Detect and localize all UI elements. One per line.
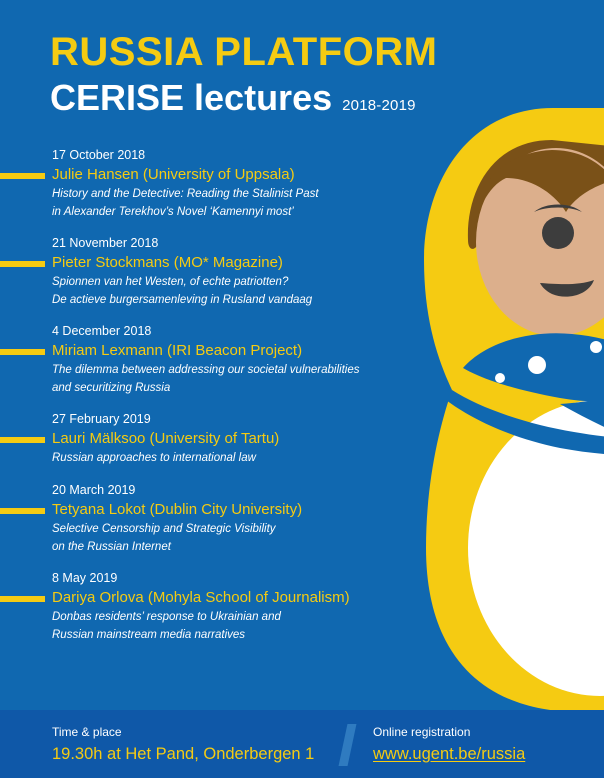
list-item: 8 May 2019 Dariya Orlova (Mohyla School … — [0, 569, 430, 643]
lecture-date: 17 October 2018 — [52, 146, 430, 164]
lecture-description-line1: Selective Censorship and Strategic Visib… — [52, 521, 430, 537]
dash-marker-icon — [0, 437, 45, 443]
lecture-speaker: Tetyana Lokot (Dublin City University) — [52, 501, 302, 518]
lecture-description-line1: The dilemma between addressing our socie… — [52, 362, 430, 378]
poster-header: RUSSIA PLATFORM CERISE lectures 2018-201… — [50, 32, 470, 116]
lecture-description-line2: in Alexander Terekhov’s Novel ‘Kamennyi … — [52, 204, 430, 220]
lecture-description-line2: De actieve burgersamenleving in Rusland … — [52, 292, 430, 308]
list-item: 21 November 2018 Pieter Stockmans (MO* M… — [0, 234, 430, 308]
doll-hair — [468, 140, 604, 249]
list-item: 20 March 2019 Tetyana Lokot (Dublin City… — [0, 481, 430, 555]
doll-eye — [542, 217, 574, 249]
doll-eyebrow — [534, 205, 582, 213]
collar-dot — [495, 373, 505, 383]
registration-block: Online registration www.ugent.be/russia — [373, 724, 525, 765]
registration-url-link[interactable]: www.ugent.be/russia — [373, 743, 525, 765]
list-item: 4 December 2018 Miriam Lexmann (IRI Beac… — [0, 322, 430, 396]
poster: RUSSIA PLATFORM CERISE lectures 2018-201… — [0, 0, 604, 778]
lecture-speaker: Julie Hansen (University of Uppsala) — [52, 166, 295, 183]
lecture-date: 21 November 2018 — [52, 234, 430, 252]
lecture-speaker-row: Miriam Lexmann (IRI Beacon Project) — [52, 341, 430, 361]
doll-apron — [468, 400, 604, 696]
dash-marker-icon — [0, 596, 45, 602]
registration-label: Online registration — [373, 724, 525, 741]
lecture-date: 27 February 2019 — [52, 410, 430, 428]
time-and-place-value: 19.30h at Het Pand, Onderbergen 1 — [52, 743, 314, 765]
dash-marker-icon — [0, 349, 45, 355]
slash-divider-icon — [339, 724, 357, 766]
lecture-date: 4 December 2018 — [52, 322, 430, 340]
dash-marker-icon — [0, 173, 45, 179]
lecture-date: 8 May 2019 — [52, 569, 430, 587]
time-and-place-label: Time & place — [52, 724, 314, 741]
page-title: RUSSIA PLATFORM — [50, 32, 470, 72]
list-item: 17 October 2018 Julie Hansen (University… — [0, 146, 430, 220]
lecture-speaker-row: Tetyana Lokot (Dublin City University) — [52, 500, 430, 520]
lecture-description-line2: and securitizing Russia — [52, 380, 430, 396]
lecture-description-line1: Spionnen van het Westen, of echte patrio… — [52, 274, 430, 290]
lecture-description-line1: Donbas residents’ response to Ukrainian … — [52, 609, 430, 625]
lecture-description-line2: on the Russian Internet — [52, 539, 430, 555]
collar-dot — [590, 341, 602, 353]
lecture-description-line1: Russian approaches to international law — [52, 450, 430, 466]
lecture-speaker-row: Pieter Stockmans (MO* Magazine) — [52, 253, 430, 273]
doll-collar — [463, 333, 604, 470]
doll-smile — [540, 280, 594, 297]
lecture-speaker-row: Dariya Orlova (Mohyla School of Journali… — [52, 588, 430, 608]
lecture-speaker: Lauri Mälksoo (University of Tartu) — [52, 430, 279, 447]
lecture-date: 20 March 2019 — [52, 481, 430, 499]
collar-dot — [528, 356, 546, 374]
season-years: 2018-2019 — [342, 97, 416, 114]
page-subtitle: CERISE lectures — [50, 80, 332, 116]
list-item: 27 February 2019 Lauri Mälksoo (Universi… — [0, 410, 430, 467]
lecture-speaker: Dariya Orlova (Mohyla School of Journali… — [52, 589, 350, 606]
lecture-list: 17 October 2018 Julie Hansen (University… — [0, 146, 430, 657]
lecture-speaker: Pieter Stockmans (MO* Magazine) — [52, 254, 283, 271]
lecture-speaker-row: Lauri Mälksoo (University of Tartu) — [52, 429, 430, 449]
lecture-description-line2: Russian mainstream media narratives — [52, 627, 430, 643]
dash-marker-icon — [0, 261, 45, 267]
lecture-speaker: Miriam Lexmann (IRI Beacon Project) — [52, 342, 302, 359]
poster-footer: Time & place 19.30h at Het Pand, Onderbe… — [0, 710, 604, 778]
lecture-description-line1: History and the Detective: Reading the S… — [52, 186, 430, 202]
dash-marker-icon — [0, 508, 45, 514]
doll-headscarf — [424, 108, 604, 712]
doll-scarf-fold — [446, 390, 604, 455]
subtitle-row: CERISE lectures 2018-2019 — [50, 80, 470, 116]
time-and-place-block: Time & place 19.30h at Het Pand, Onderbe… — [52, 724, 314, 765]
doll-face — [470, 148, 604, 336]
lecture-speaker-row: Julie Hansen (University of Uppsala) — [52, 165, 430, 185]
